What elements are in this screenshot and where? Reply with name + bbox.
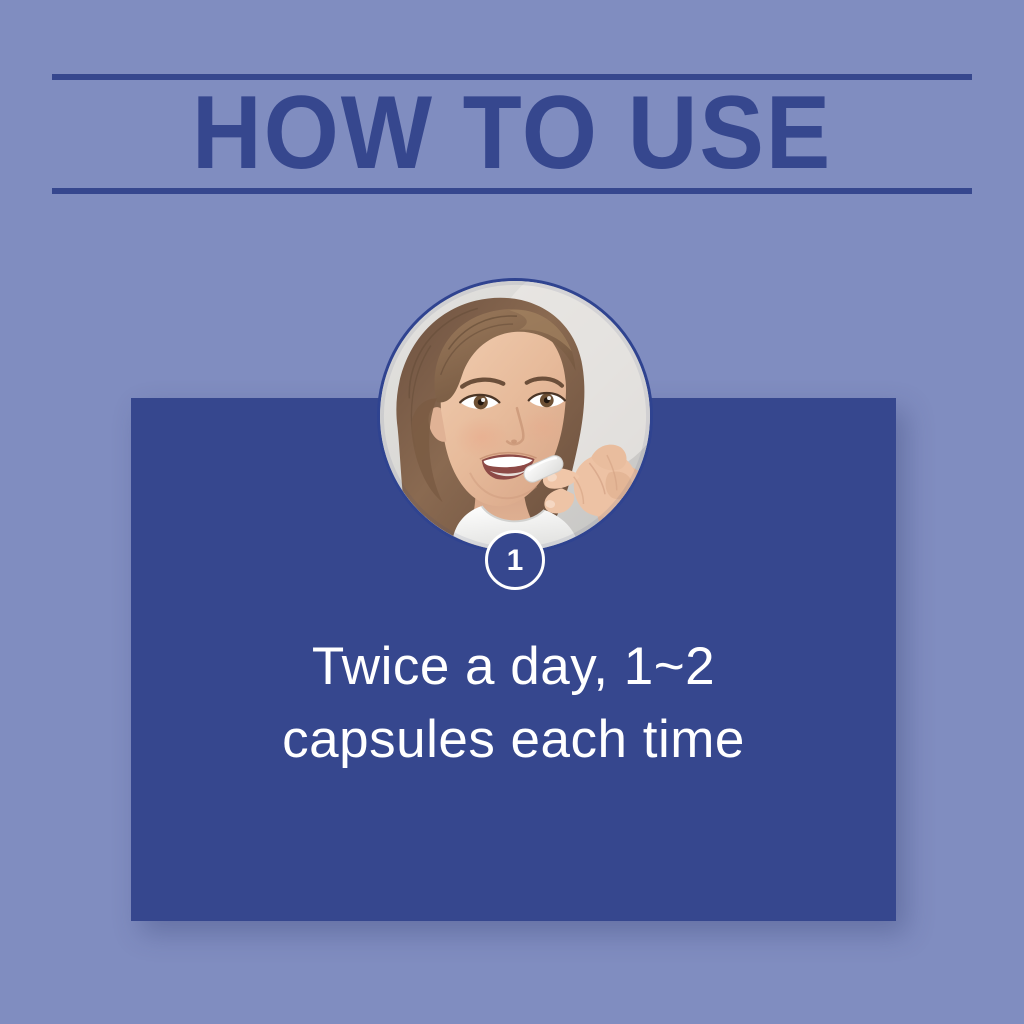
instruction-line-1: Twice a day, 1~2 (131, 630, 896, 703)
page-title: HOW TO USE (84, 78, 940, 188)
instruction-text: Twice a day, 1~2 capsules each time (131, 630, 896, 776)
portrait-photo-illustration (380, 281, 650, 551)
step-number: 1 (488, 533, 542, 587)
header: HOW TO USE (52, 74, 972, 194)
portrait-photo (377, 278, 653, 554)
instruction-line-2: capsules each time (131, 703, 896, 776)
bottom-divider-rule (52, 188, 972, 194)
how-to-use-card: HOW TO USE Twice a day, 1~2 capsules eac… (0, 0, 1024, 1024)
step-badge: 1 (485, 530, 545, 590)
